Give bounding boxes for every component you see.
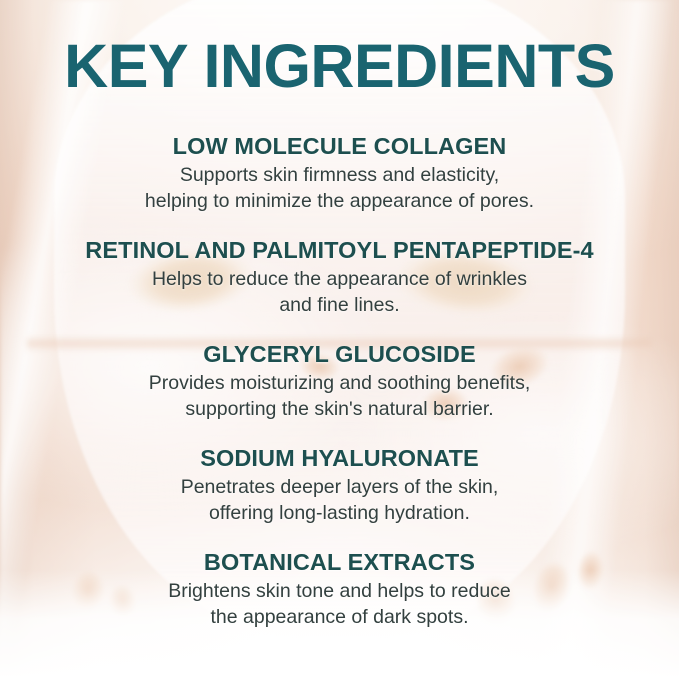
ingredient-description: Provides moisturizing and soothing benef…: [0, 371, 679, 422]
ingredient-name: RETINOL AND PALMITOYL PENTAPEPTIDE-4: [0, 237, 679, 263]
ingredient-description-line: offering long-lasting hydration.: [0, 501, 679, 526]
ingredient-item-sodium-hyaluronate: SODIUM HYALURONATE Penetrates deeper lay…: [0, 445, 679, 526]
ingredient-description: Brightens skin tone and helps to reduce …: [0, 579, 679, 630]
ingredient-item-retinol-and-palmitoyl-pentapeptide-4: RETINOL AND PALMITOYL PENTAPEPTIDE-4 Hel…: [0, 237, 679, 318]
poster-content: KEY INGREDIENTS LOW MOLECULE COLLAGEN Su…: [0, 0, 679, 679]
ingredient-item-botanical-extracts: BOTANICAL EXTRACTS Brightens skin tone a…: [0, 549, 679, 630]
ingredient-description-line: Supports skin firmness and elasticity,: [0, 163, 679, 188]
ingredient-name: GLYCERYL GLUCOSIDE: [0, 341, 679, 367]
key-ingredients-poster: KEY INGREDIENTS LOW MOLECULE COLLAGEN Su…: [0, 0, 679, 679]
ingredient-name: SODIUM HYALURONATE: [0, 445, 679, 471]
ingredient-item-low-molecule-collagen: LOW MOLECULE COLLAGEN Supports skin firm…: [0, 133, 679, 214]
ingredient-description-line: Penetrates deeper layers of the skin,: [0, 475, 679, 500]
ingredient-item-glyceryl-glucoside: GLYCERYL GLUCOSIDE Provides moisturizing…: [0, 341, 679, 422]
ingredient-description-line: Brightens skin tone and helps to reduce: [0, 579, 679, 604]
ingredient-description-line: the appearance of dark spots.: [0, 605, 679, 630]
ingredient-description: Helps to reduce the appearance of wrinkl…: [0, 267, 679, 318]
page-title: KEY INGREDIENTS: [0, 36, 679, 97]
ingredient-description: Penetrates deeper layers of the skin, of…: [0, 475, 679, 526]
ingredient-description-line: Helps to reduce the appearance of wrinkl…: [0, 267, 679, 292]
ingredient-description: Supports skin firmness and elasticity, h…: [0, 163, 679, 214]
ingredient-description-line: supporting the skin's natural barrier.: [0, 397, 679, 422]
ingredient-name: LOW MOLECULE COLLAGEN: [0, 133, 679, 159]
ingredient-description-line: helping to minimize the appearance of po…: [0, 189, 679, 214]
ingredient-name: BOTANICAL EXTRACTS: [0, 549, 679, 575]
ingredient-description-line: and fine lines.: [0, 293, 679, 318]
ingredient-description-line: Provides moisturizing and soothing benef…: [0, 371, 679, 396]
ingredient-list: LOW MOLECULE COLLAGEN Supports skin firm…: [0, 133, 679, 653]
